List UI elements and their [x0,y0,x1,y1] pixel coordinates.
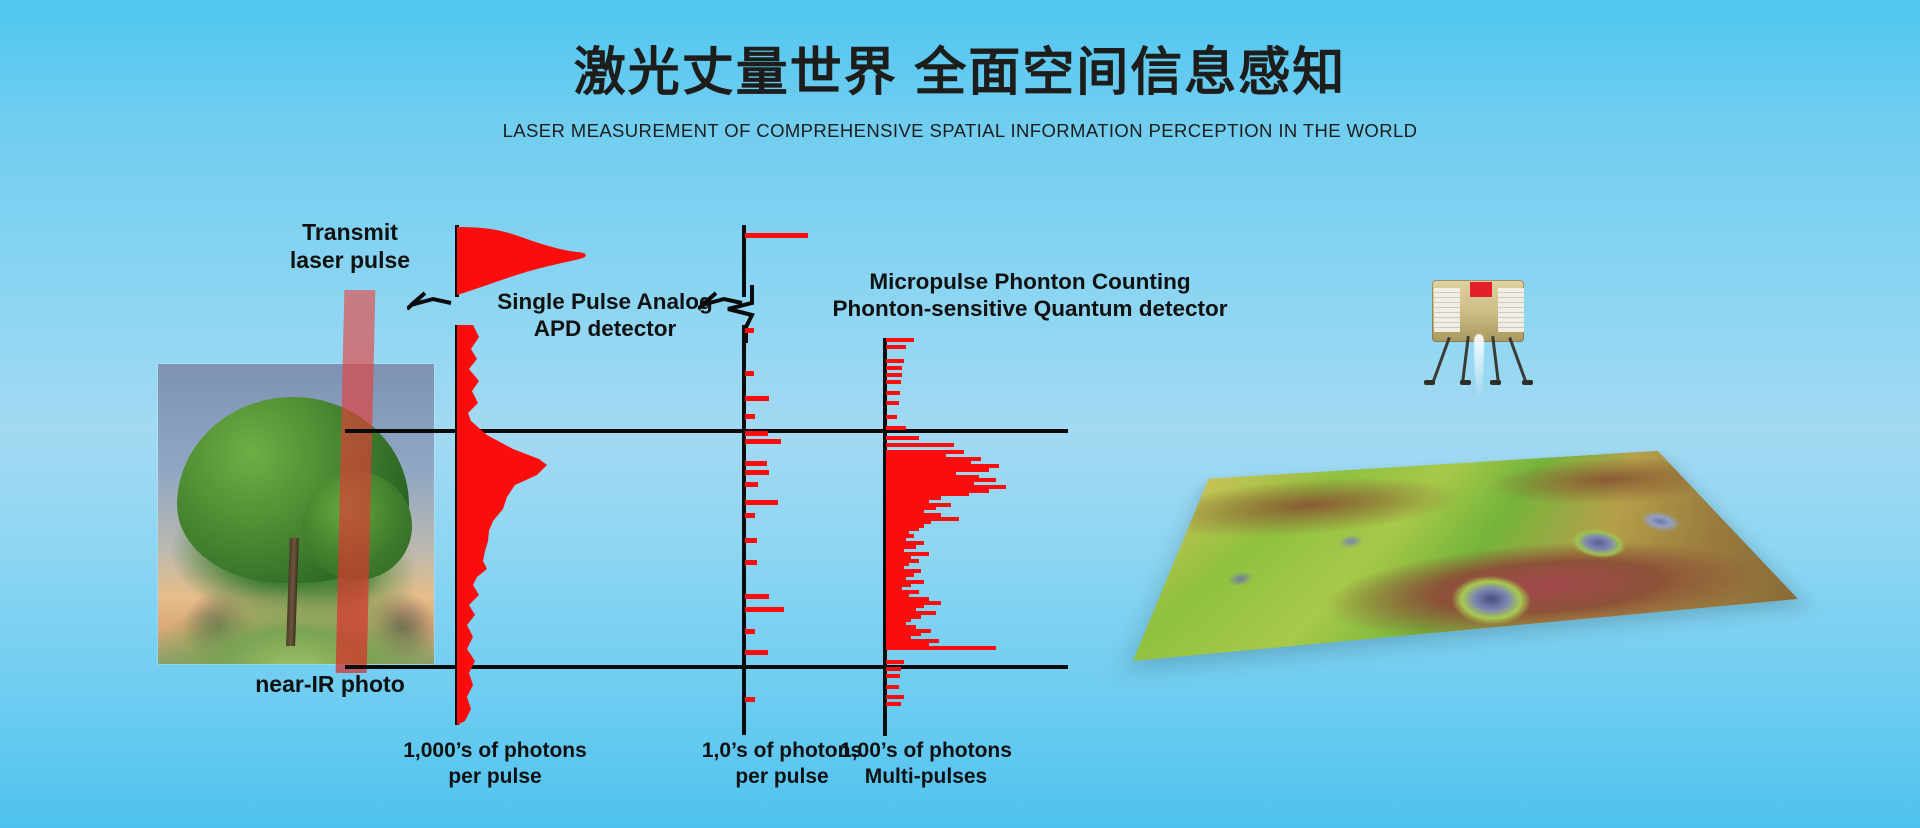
photon-bar [745,697,755,702]
photon-bar [745,538,757,543]
lunar-lander [1418,270,1538,390]
micropulse-panel: 1,00’s of photons Multi-pulses [883,338,1083,738]
photon-bar [745,650,768,655]
photon-bar [886,345,906,349]
caption-micropulse: 1,00’s of photons Multi-pulses [776,738,1076,790]
lander-exhaust-plume [1474,334,1484,398]
photon-bar [745,470,769,475]
photon-bar [745,461,767,466]
photon-bar [886,436,919,440]
near-ir-photo-label: near-IR photo [210,670,450,698]
lander-solar-panel-left [1434,288,1460,332]
lander-foot-1 [1424,380,1435,385]
lander-leg-2 [1461,336,1470,382]
sparse-axis-lower [742,325,746,735]
photon-bar [745,396,769,401]
photon-bar [886,366,902,370]
photon-bar [886,660,904,664]
photon-bar [886,415,897,419]
lander-leg-1 [1432,337,1451,381]
lander-leg-4 [1508,337,1527,381]
near-ir-photo-image [158,364,434,664]
photon-bar [886,667,901,671]
page-title: 激光丈量世界 全面空间信息感知 [0,44,1920,104]
photon-bar [886,702,901,706]
lander-foot-3 [1490,380,1501,385]
photon-bar [745,607,784,612]
photon-bar [745,371,754,376]
photon-bar [745,594,769,599]
photon-bar [745,560,757,565]
photon-bar [745,431,768,436]
analog-axis-break-icon [407,283,459,325]
photon-bar [886,695,904,699]
photon-bar [886,401,899,405]
photon-bar [745,414,755,419]
photon-bar [886,391,900,395]
transmit-laser-pulse-label: Transmit laser pulse [250,218,450,274]
transmit-pulse-waveform [457,225,607,297]
lander-foot-4 [1522,380,1533,385]
terrain-surface [1133,451,1798,661]
page-header: 激光丈量世界 全面空间信息感知 LASER MEASUREMENT OF COM… [0,44,1920,142]
chinese-flag-icon [1470,282,1492,297]
photon-bar [745,233,808,238]
photon-bar [745,513,755,518]
page-subtitle: LASER MEASUREMENT OF COMPREHENSIVE SPATI… [0,120,1920,142]
photon-bar [745,328,754,333]
lander-foot-2 [1460,380,1471,385]
photon-bar [886,380,901,384]
photon-bar [745,439,781,444]
sparse-axis-break-icon [698,283,750,325]
micropulse-detector-label: Micropulse Phonton Counting Phonton-sens… [815,268,1245,323]
photon-bar [745,482,758,487]
lander-leg-3 [1491,336,1500,382]
lidar-terrain-model [1190,270,1750,710]
analog-return-waveform [457,325,617,725]
photon-bar [886,359,904,363]
photon-bar [886,685,899,689]
poster-canvas: 激光丈量世界 全面空间信息感知 LASER MEASUREMENT OF COM… [0,0,1920,828]
photon-bar [886,373,902,377]
photon-bar [886,674,900,678]
lander-solar-panel-right [1498,288,1524,332]
photon-bar [886,646,996,650]
photon-bar [745,500,778,505]
photon-bar [886,443,954,447]
photon-bar [886,338,914,342]
photon-bar [886,426,906,430]
photon-bar [745,629,755,634]
caption-analog: 1,000’s of photons per pulse [345,738,645,790]
